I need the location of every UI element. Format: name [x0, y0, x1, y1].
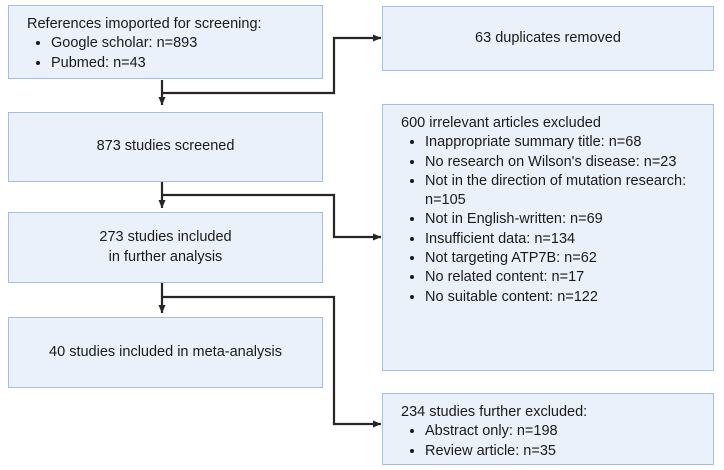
prisma-flow-diagram: References imoported for screening: Goog…	[0, 0, 724, 470]
list-item: No suitable content: n=122	[425, 288, 703, 307]
list-item: Not in the direction of mutation researc…	[425, 172, 703, 211]
studies-included-further-line2: in further analysis	[99, 248, 231, 267]
list-item: Google scholar: n=893	[51, 34, 312, 53]
box-references-imported[interactable]: References imoported for screening: Goog…	[8, 5, 323, 79]
box-irrelevant-excluded[interactable]: 600 irrelevant articles excluded Inappro…	[382, 104, 714, 371]
box-studies-meta-analysis[interactable]: 40 studies included in meta-analysis	[8, 317, 323, 388]
box-studies-included-further[interactable]: 273 studies included in further analysis	[8, 212, 323, 283]
studies-screened-label: 873 studies screened	[97, 137, 235, 156]
studies-included-further-text: 273 studies included in further analysis	[99, 228, 231, 267]
box-duplicates-removed[interactable]: 63 duplicates removed	[382, 6, 714, 71]
list-item: Not targeting ATP7B: n=62	[425, 249, 703, 268]
box-further-excluded[interactable]: 234 studies further excluded: Abstract o…	[382, 393, 714, 465]
list-item: Review article: n=35	[425, 442, 703, 461]
further-excluded-heading: 234 studies further excluded:	[401, 403, 703, 422]
irrelevant-excluded-heading: 600 irrelevant articles excluded	[401, 114, 703, 133]
studies-meta-analysis-label: 40 studies included in meta-analysis	[49, 343, 282, 362]
list-item: No research on Wilson's disease: n=23	[425, 153, 703, 172]
references-imported-heading: References imoported for screening:	[27, 15, 312, 34]
list-item: Insufficient data: n=134	[425, 230, 703, 249]
further-excluded-list: Abstract only: n=198 Review article: n=3…	[401, 422, 703, 461]
references-imported-list: Google scholar: n=893 Pubmed: n=43	[27, 34, 312, 73]
list-item: No related content: n=17	[425, 268, 703, 287]
box-studies-screened[interactable]: 873 studies screened	[8, 112, 323, 182]
list-item: Abstract only: n=198	[425, 422, 703, 441]
list-item: Not in English-written: n=69	[425, 210, 703, 229]
list-item: Pubmed: n=43	[51, 54, 312, 73]
list-item: Inappropriate summary title: n=68	[425, 133, 703, 152]
duplicates-removed-label: 63 duplicates removed	[475, 29, 621, 48]
studies-included-further-line1: 273 studies included	[99, 228, 231, 247]
irrelevant-excluded-list: Inappropriate summary title: n=68 No res…	[401, 133, 703, 307]
